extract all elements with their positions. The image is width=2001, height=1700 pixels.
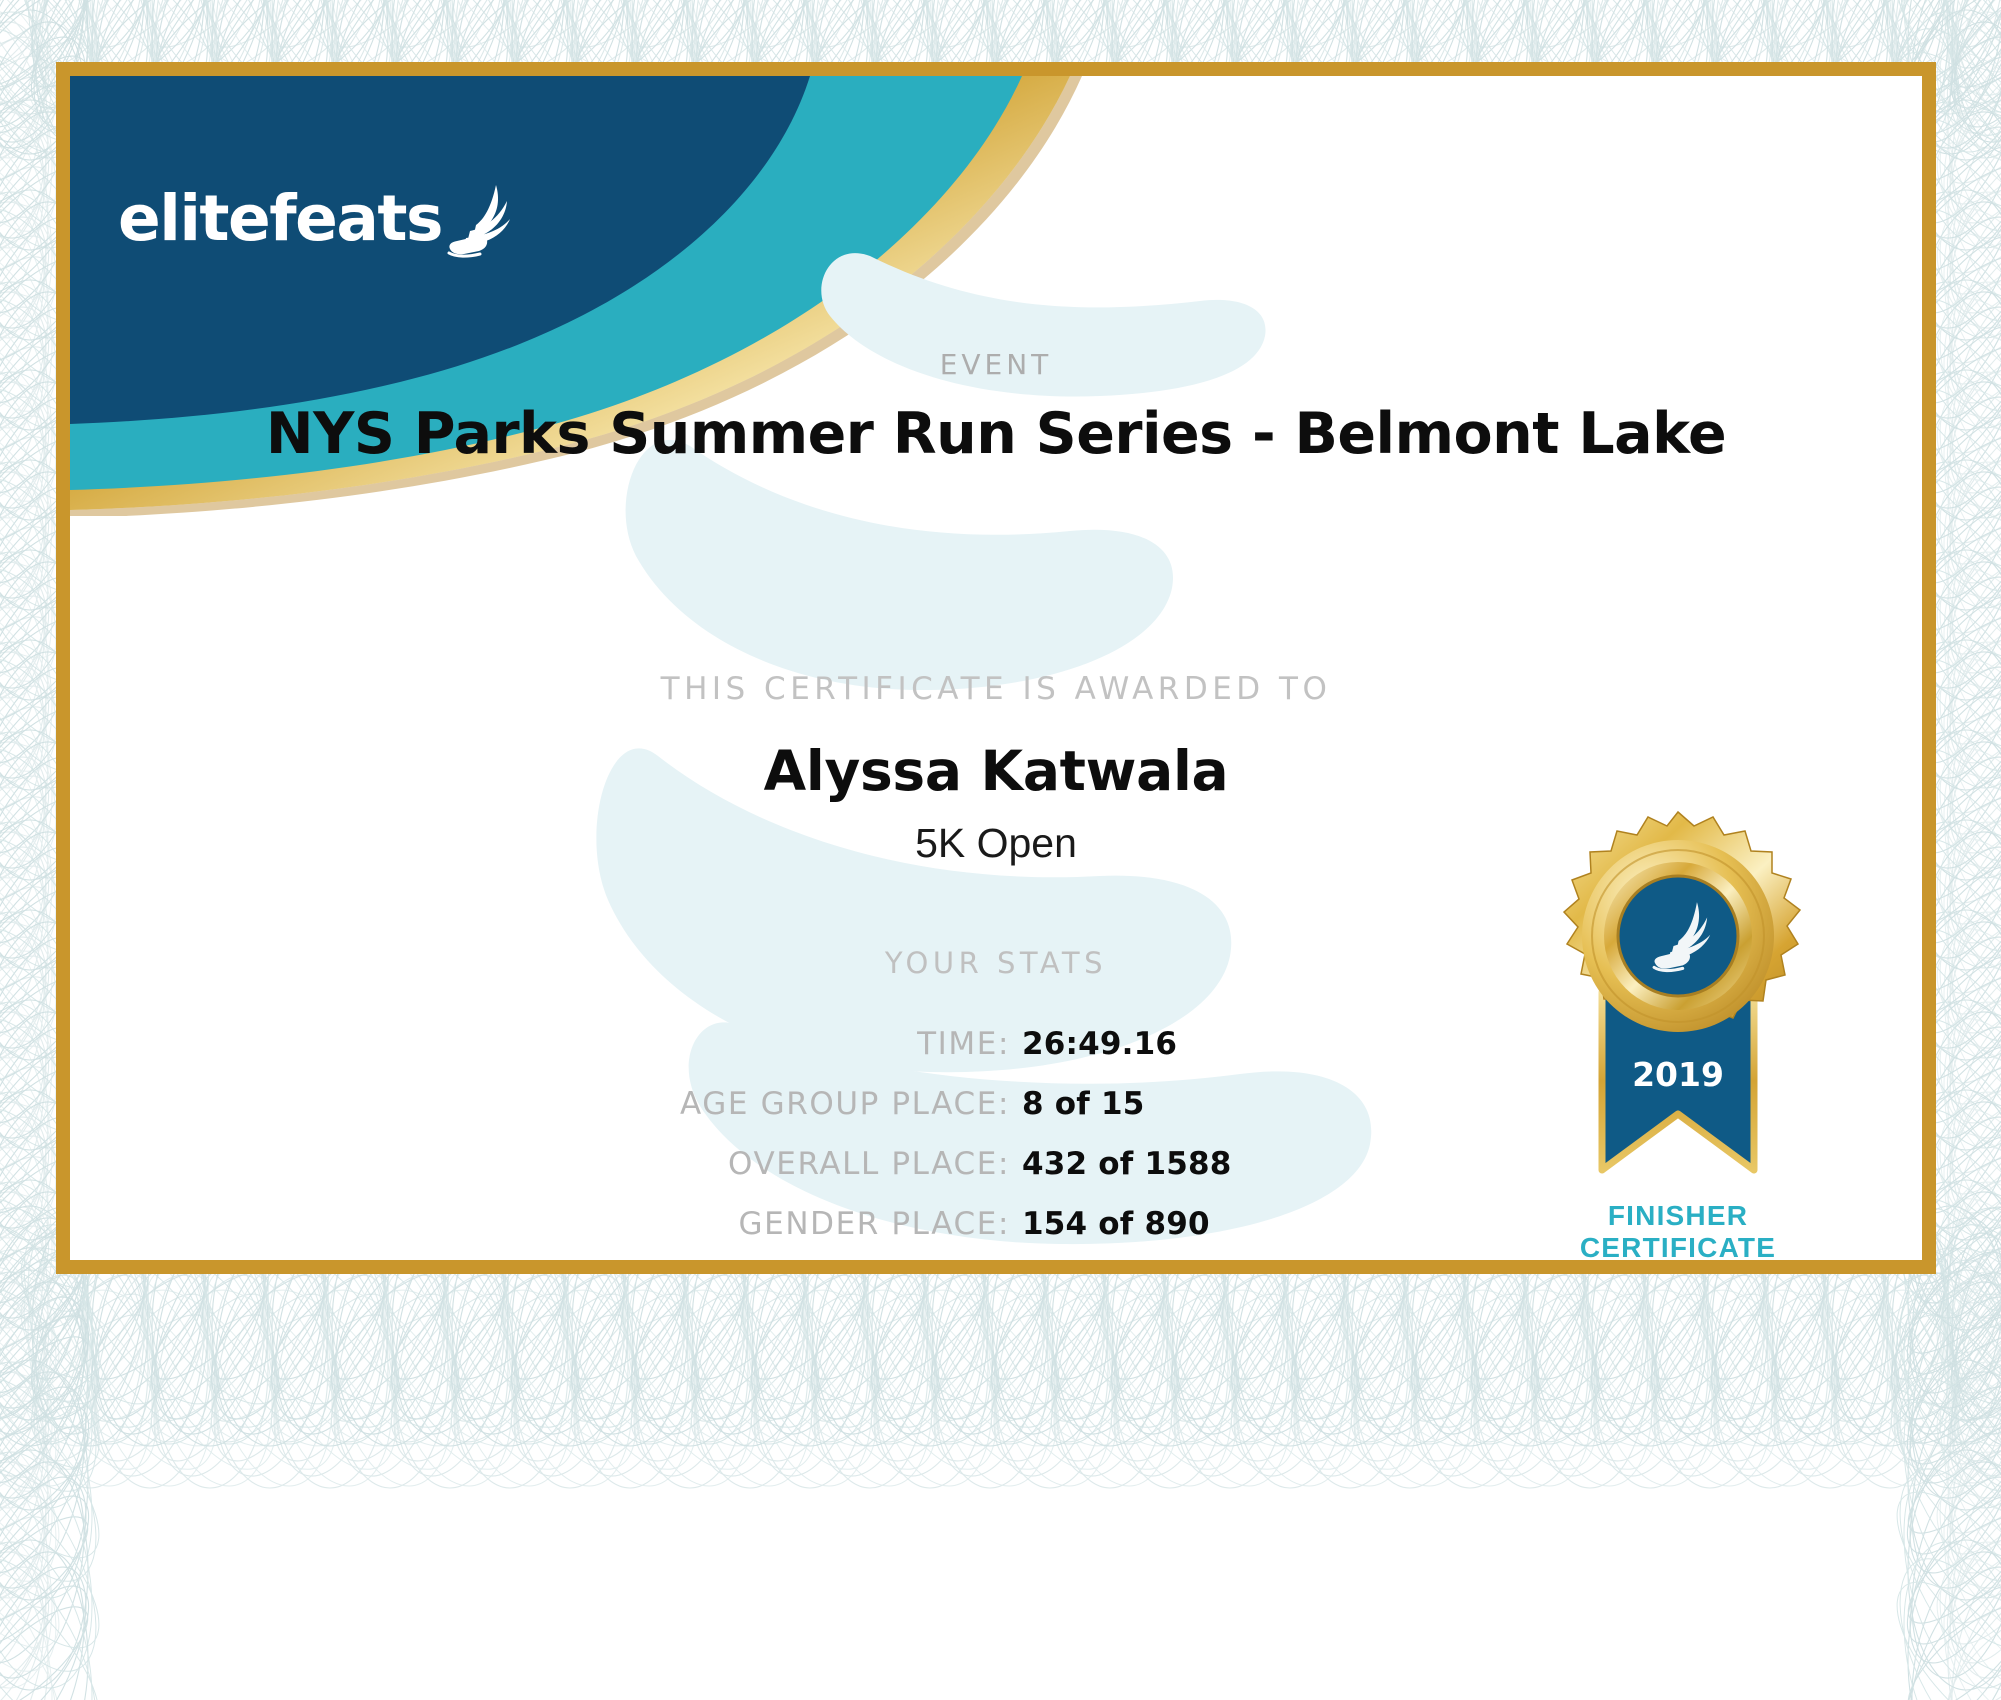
stat-label-gender-place: GENDER PLACE: (70, 1206, 1010, 1242)
badge-caption-line1: FINISHER (1528, 1200, 1828, 1232)
finisher-badge: 2019 (1528, 796, 1828, 1260)
certificate-page: elitefeats (0, 0, 2001, 1700)
badge-caption: FINISHER CERTIFICATE (1528, 1200, 1828, 1260)
event-label: EVENT (70, 348, 1922, 381)
certificate-frame: elitefeats (56, 62, 1936, 1274)
award-rosette-icon: 2019 (1528, 796, 1828, 1196)
stat-label-overall-place: OVERALL PLACE: (70, 1146, 1010, 1182)
badge-year-text: 2019 (1632, 1055, 1724, 1094)
event-title: NYS Parks Summer Run Series - Belmont La… (70, 403, 1922, 467)
recipient-name: Alyssa Katwala (70, 741, 1922, 802)
stat-label-time: TIME: (70, 1026, 1010, 1062)
badge-caption-line2: CERTIFICATE (1528, 1232, 1828, 1260)
stat-label-age-group-place: AGE GROUP PLACE: (70, 1086, 1010, 1122)
awarded-to-label: THIS CERTIFICATE IS AWARDED TO (70, 671, 1922, 707)
